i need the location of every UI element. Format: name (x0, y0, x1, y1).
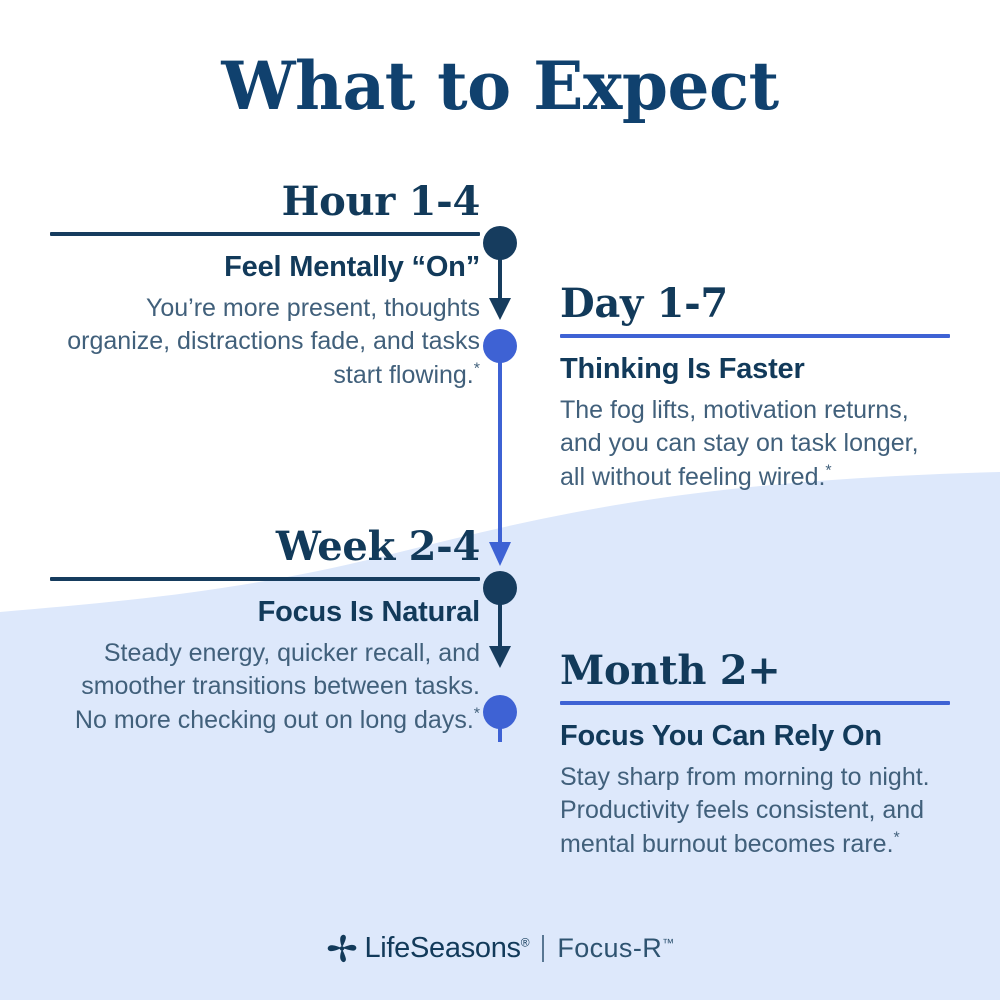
footer-brand-lockup: LifeSeasons® Focus-R™ (0, 932, 1000, 965)
brand-divider (542, 935, 544, 962)
product-name-text: Focus-R (557, 933, 662, 963)
timeline-node-day[interactable] (483, 329, 517, 363)
brand-name-text: LifeSeasons (364, 932, 520, 964)
timeline-node-week[interactable] (483, 571, 517, 605)
arrowhead-hour-to-day (489, 298, 511, 320)
pinwheel-leaf-logo-icon (325, 933, 359, 965)
timeline-connectors (0, 0, 1000, 1000)
infographic-canvas: What to Expect Hour 1-4 Feel Mentally “O… (0, 0, 1000, 1000)
product-name: Focus-R™ (557, 933, 674, 964)
brand-name: LifeSeasons® (364, 932, 529, 965)
arrowhead-day-to-week (489, 542, 511, 566)
timeline-node-hour[interactable] (483, 226, 517, 260)
brand-logo-lockup[interactable]: LifeSeasons® (325, 932, 529, 965)
timeline-node-month[interactable] (483, 695, 517, 729)
trademark-mark: ™ (662, 936, 674, 950)
arrowhead-week-to-month (489, 646, 511, 668)
registered-mark: ® (521, 935, 530, 949)
